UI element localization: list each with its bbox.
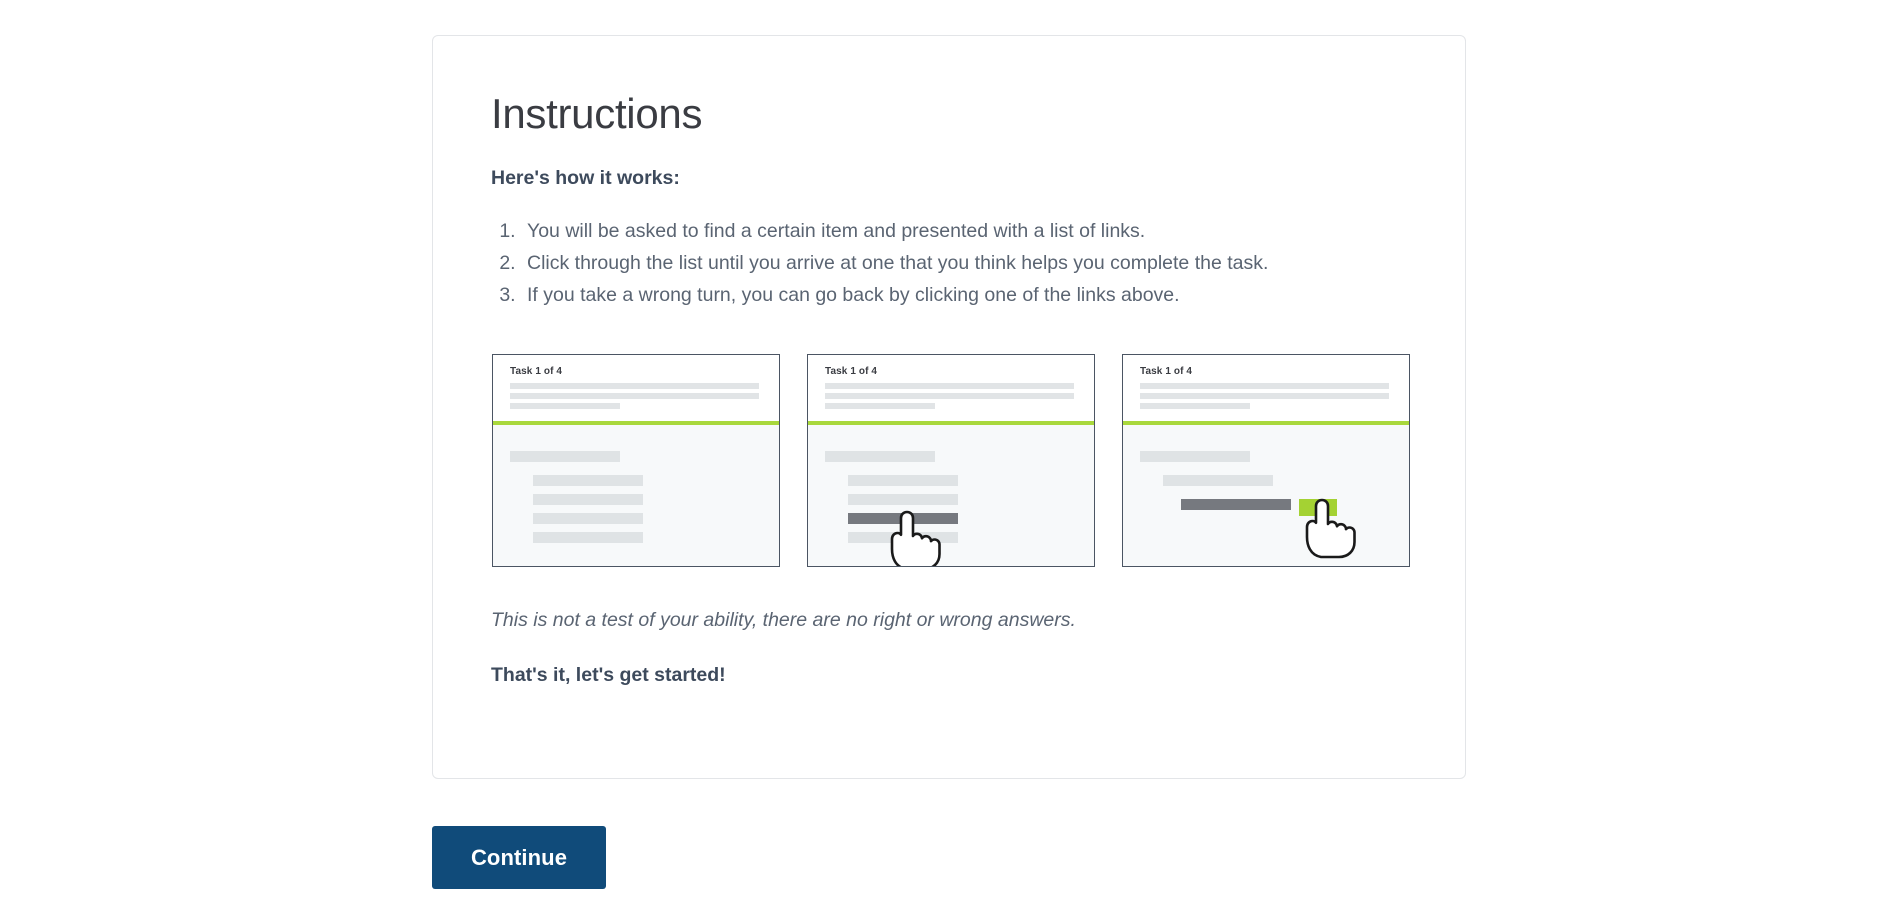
illustration-card-3: Task 1 of 4 [1122, 354, 1410, 567]
placeholder-bar [825, 393, 1074, 399]
card-2-header: Task 1 of 4 [808, 355, 1094, 421]
continue-button[interactable]: Continue [432, 826, 606, 889]
placeholder-bar [825, 383, 1074, 389]
placeholder-bar-selected [1181, 499, 1291, 510]
placeholder-bar [1140, 383, 1389, 389]
instruction-step-3: If you take a wrong turn, you can go bac… [521, 280, 1421, 310]
disclaimer-text: This is not a test of your ability, ther… [491, 607, 1465, 634]
instructions-panel: Instructions Here's how it works: You wi… [432, 35, 1466, 779]
instruction-step-1: You will be asked to find a certain item… [521, 216, 1421, 246]
placeholder-bar [510, 451, 620, 462]
card-1-header: Task 1 of 4 [493, 355, 779, 421]
placeholder-bar-selected [848, 513, 958, 524]
illustration-strip: Task 1 of 4 [492, 354, 1465, 567]
placeholder-bar [1163, 475, 1273, 486]
card-1-body [493, 425, 779, 566]
page-title: Instructions [491, 91, 1465, 137]
closing-text: That's it, let's get started! [491, 662, 1465, 689]
instruction-step-2: Click through the list until you arrive … [521, 248, 1421, 278]
placeholder-bar [1140, 451, 1250, 462]
placeholder-bar [1140, 393, 1389, 399]
card-2-task-label: Task 1 of 4 [825, 366, 1080, 377]
placeholder-bar [848, 494, 958, 505]
placeholder-bar [510, 393, 759, 399]
intro-text: Here's how it works: [491, 165, 1465, 191]
placeholder-bar [533, 532, 643, 543]
placeholder-bar [510, 403, 620, 409]
placeholder-bar [848, 532, 958, 543]
card-3-task-label: Task 1 of 4 [1140, 366, 1395, 377]
card-3-body [1123, 425, 1409, 566]
placeholder-bar [825, 451, 935, 462]
panel-content: Instructions Here's how it works: You wi… [433, 36, 1465, 689]
card-1-task-label: Task 1 of 4 [510, 366, 765, 377]
placeholder-bar [510, 383, 759, 389]
placeholder-bar [533, 494, 643, 505]
page-root: Instructions Here's how it works: You wi… [0, 0, 1895, 914]
placeholder-bar [1140, 403, 1250, 409]
card-3-header: Task 1 of 4 [1123, 355, 1409, 421]
placeholder-bar [848, 475, 958, 486]
card-2-body [808, 425, 1094, 566]
illustration-card-2: Task 1 of 4 [807, 354, 1095, 567]
illustration-card-1: Task 1 of 4 [492, 354, 780, 567]
instruction-steps-list: You will be asked to find a certain item… [491, 216, 1421, 310]
placeholder-bar [533, 513, 643, 524]
placeholder-target-button [1299, 499, 1337, 516]
placeholder-bar [825, 403, 935, 409]
placeholder-bar [533, 475, 643, 486]
